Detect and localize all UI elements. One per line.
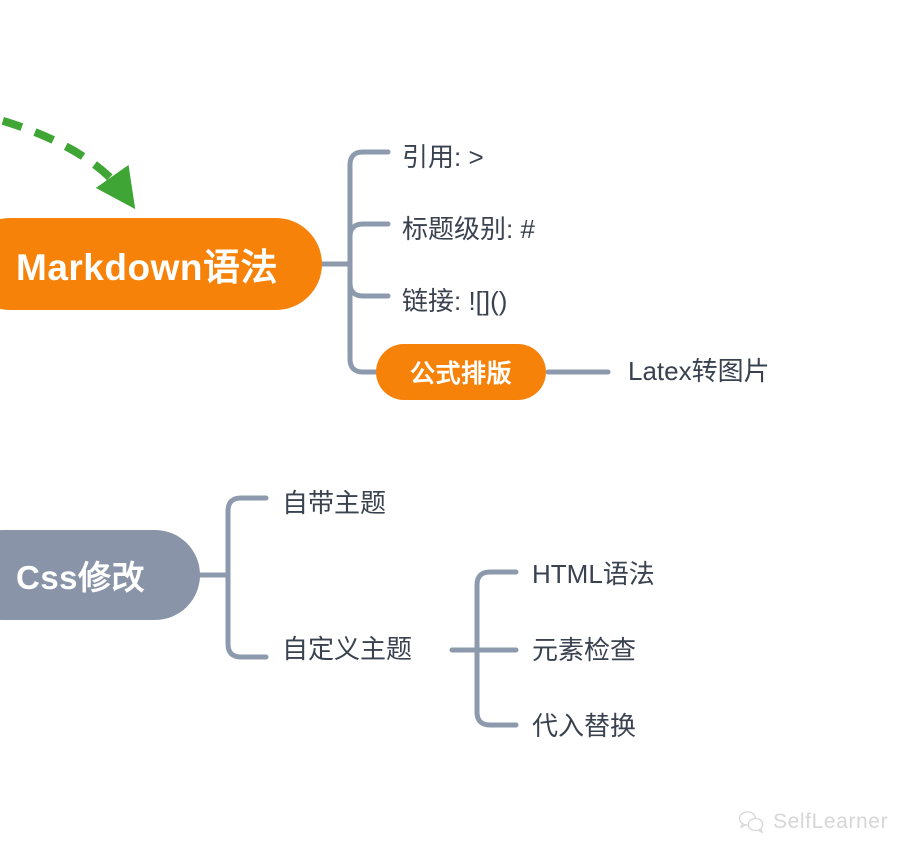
node-builtin-theme[interactable]: 自带主题: [282, 490, 386, 516]
green-dashed-arrow: [0, 112, 126, 196]
wire-css-builtin: [228, 498, 266, 575]
node-root-css-label: Css修改: [16, 551, 145, 599]
wire-css-custom: [228, 575, 266, 657]
node-root-markdown[interactable]: Markdown语法: [0, 218, 322, 310]
wechat-icon: [738, 810, 764, 834]
mindmap-canvas: Markdown语法 引用: > 标题级别: # 链接: ![]() 公式排版 …: [0, 0, 914, 856]
connector-layer: [0, 0, 914, 856]
node-formula-label: 公式排版: [410, 354, 512, 390]
wire-markdown-link: [350, 264, 388, 296]
node-html-syntax[interactable]: HTML语法: [532, 561, 655, 587]
node-element-inspect-label: 元素检查: [532, 635, 636, 665]
wire-markdown-quote: [350, 152, 388, 264]
watermark: SelfLearner: [738, 810, 888, 834]
node-substitute[interactable]: 代入替换: [532, 713, 636, 739]
node-substitute-label: 代入替换: [532, 711, 636, 741]
node-quote[interactable]: 引用: >: [402, 144, 484, 170]
node-custom-theme[interactable]: 自定义主题: [282, 636, 412, 662]
node-heading[interactable]: 标题级别: #: [402, 216, 535, 242]
node-latex-label: Latex转图片: [628, 356, 770, 386]
node-formula[interactable]: 公式排版: [376, 344, 546, 400]
node-html-syntax-label: HTML语法: [532, 559, 655, 589]
wire-markdown-formula: [350, 264, 378, 372]
node-builtin-theme-label: 自带主题: [282, 488, 386, 518]
node-quote-label: 引用: >: [402, 142, 484, 172]
node-latex[interactable]: Latex转图片: [628, 358, 770, 384]
node-root-markdown-label: Markdown语法: [16, 237, 278, 291]
wire-markdown-heading: [350, 224, 388, 264]
node-link-label: 链接: ![](): [402, 286, 507, 316]
wire-custom-html: [477, 572, 516, 650]
node-link[interactable]: 链接: ![](): [402, 288, 507, 314]
node-element-inspect[interactable]: 元素检查: [532, 637, 636, 663]
node-root-css[interactable]: Css修改: [0, 530, 200, 620]
watermark-label: SelfLearner: [773, 810, 888, 834]
wire-custom-replace: [477, 650, 516, 725]
node-custom-theme-label: 自定义主题: [282, 634, 412, 664]
node-heading-label: 标题级别: #: [402, 214, 535, 244]
